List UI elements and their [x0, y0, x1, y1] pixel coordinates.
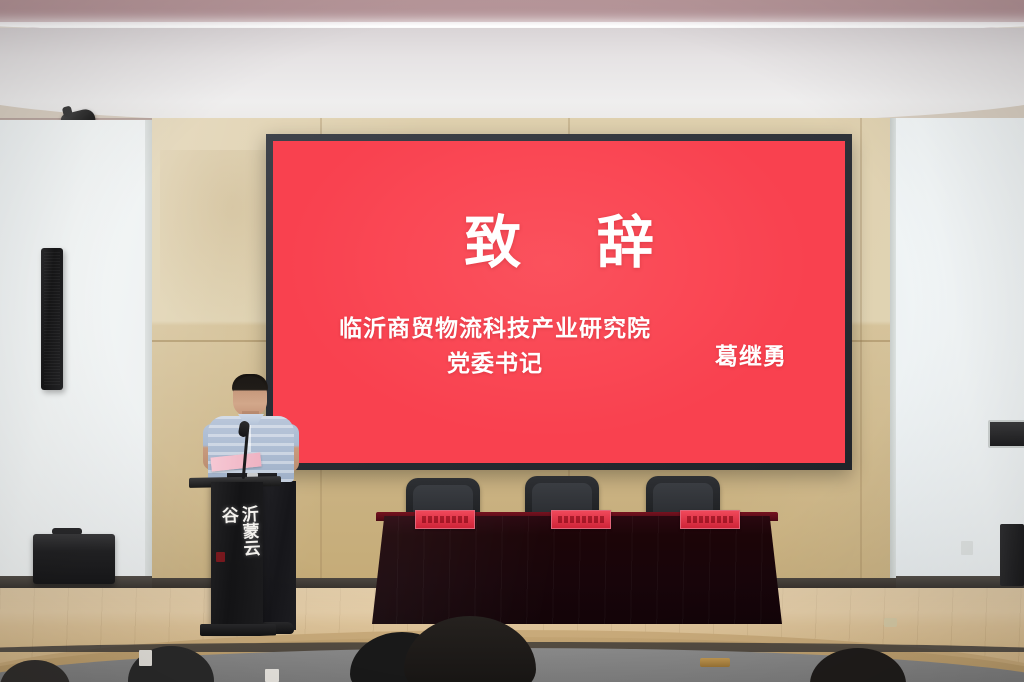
conference-stage-photo: 致 辞 临沂商贸物流科技产业研究院 党委书记 葛继勇 沂蒙云谷 [0, 0, 1024, 682]
name-card [680, 510, 740, 529]
line-array-speaker-icon [41, 248, 63, 390]
name-card-text [422, 516, 468, 523]
led-screen-glow [273, 141, 845, 463]
head-table-sheen [372, 516, 782, 624]
wood-panel-vertical-seam [860, 118, 862, 590]
speaker-head [233, 376, 267, 416]
slide-organization-line1: 临沂商贸物流科技产业研究院 [295, 311, 695, 346]
name-card-text [558, 516, 604, 523]
name-card [415, 510, 475, 529]
slide-speaker-name: 葛继勇 [651, 337, 845, 371]
left-wall [0, 120, 152, 590]
wall-outlet-icon [961, 541, 973, 555]
floor-speaker-icon [1000, 524, 1024, 586]
slide-title: 致 辞 [273, 197, 845, 279]
speaker-legs [258, 481, 296, 630]
wall-control-panel-icon [988, 420, 1024, 448]
slide-organization-line2: 党委书记 [295, 346, 695, 381]
name-card-text [687, 516, 733, 523]
audience-paper [265, 669, 279, 682]
ceiling-soffit [0, 28, 1024, 126]
slide-organization: 临沂商贸物流科技产业研究院 党委书记 [295, 311, 695, 380]
equipment-case-icon [33, 534, 115, 584]
name-card [551, 510, 611, 529]
podium-seal-icon [216, 552, 225, 562]
stage-floor-object [884, 618, 897, 627]
floor-marker-object [700, 658, 730, 667]
right-wall [896, 118, 1024, 590]
led-screen: 致 辞 临沂商贸物流科技产业研究院 党委书记 葛继勇 [273, 141, 845, 463]
podium-base [200, 624, 276, 636]
audience-paper [139, 650, 152, 666]
